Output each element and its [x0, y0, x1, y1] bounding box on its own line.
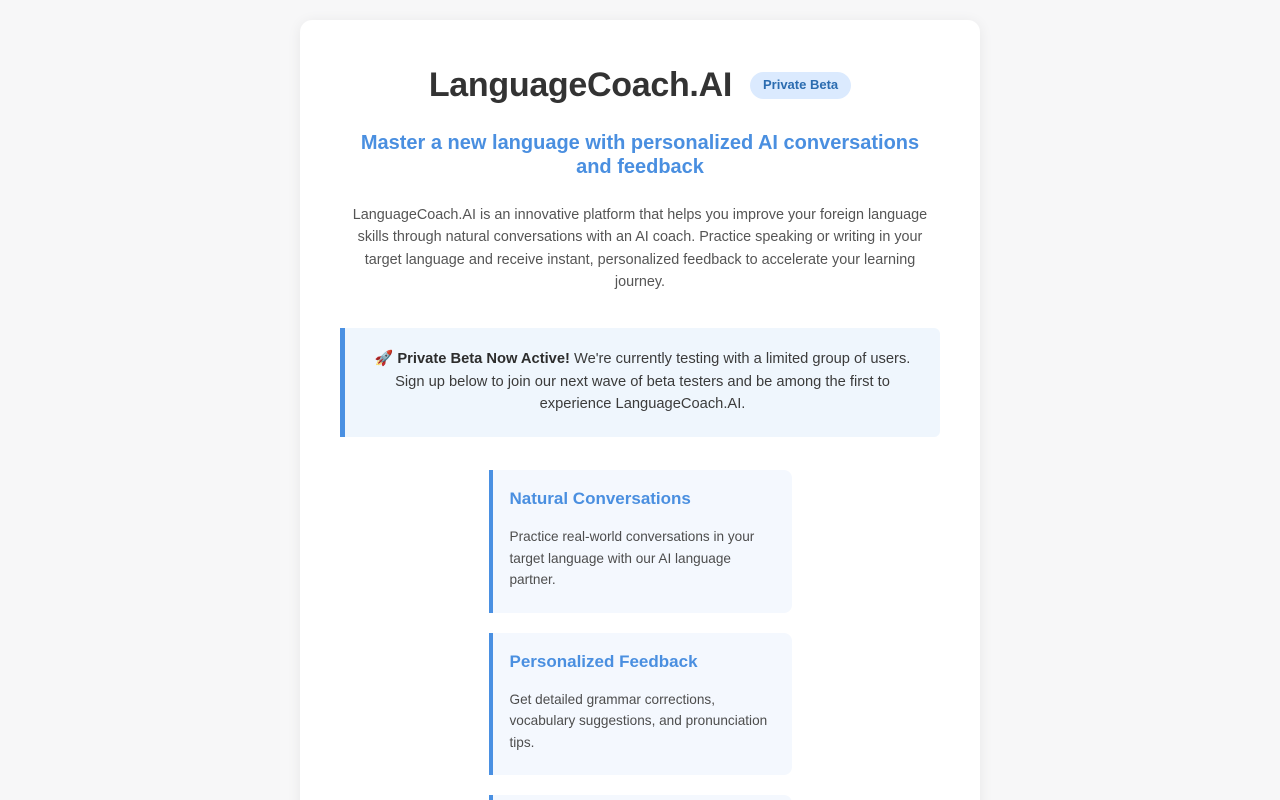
feature-card: Progress Tracking Monitor your improveme…	[489, 795, 792, 800]
beta-notice-headline: Private Beta Now Active!	[397, 351, 570, 367]
page-title: LanguageCoach.AI	[429, 66, 732, 105]
private-beta-badge: Private Beta	[750, 72, 851, 98]
feature-card-title: Natural Conversations	[510, 489, 772, 509]
feature-card: Natural Conversations Practice real-worl…	[489, 470, 792, 613]
feature-card-title: Personalized Feedback	[510, 652, 772, 672]
rocket-icon: 🚀	[375, 350, 394, 367]
page-scroll-area[interactable]: LanguageCoach.AI Private Beta Master a n…	[0, 0, 1280, 800]
feature-card-list: Natural Conversations Practice real-worl…	[340, 470, 940, 800]
hero-subtitle: Master a new language with personalized …	[340, 131, 940, 180]
page-header: LanguageCoach.AI Private Beta	[340, 66, 940, 105]
feature-card-description: Practice real-world conversations in you…	[510, 526, 772, 590]
feature-card: Personalized Feedback Get detailed gramm…	[489, 633, 792, 776]
hero-intro-paragraph: LanguageCoach.AI is an innovative platfo…	[340, 204, 940, 293]
beta-notice-banner: 🚀 Private Beta Now Active! We're current…	[340, 328, 940, 437]
feature-card-description: Get detailed grammar corrections, vocabu…	[510, 689, 772, 753]
main-content-container: LanguageCoach.AI Private Beta Master a n…	[300, 20, 980, 800]
